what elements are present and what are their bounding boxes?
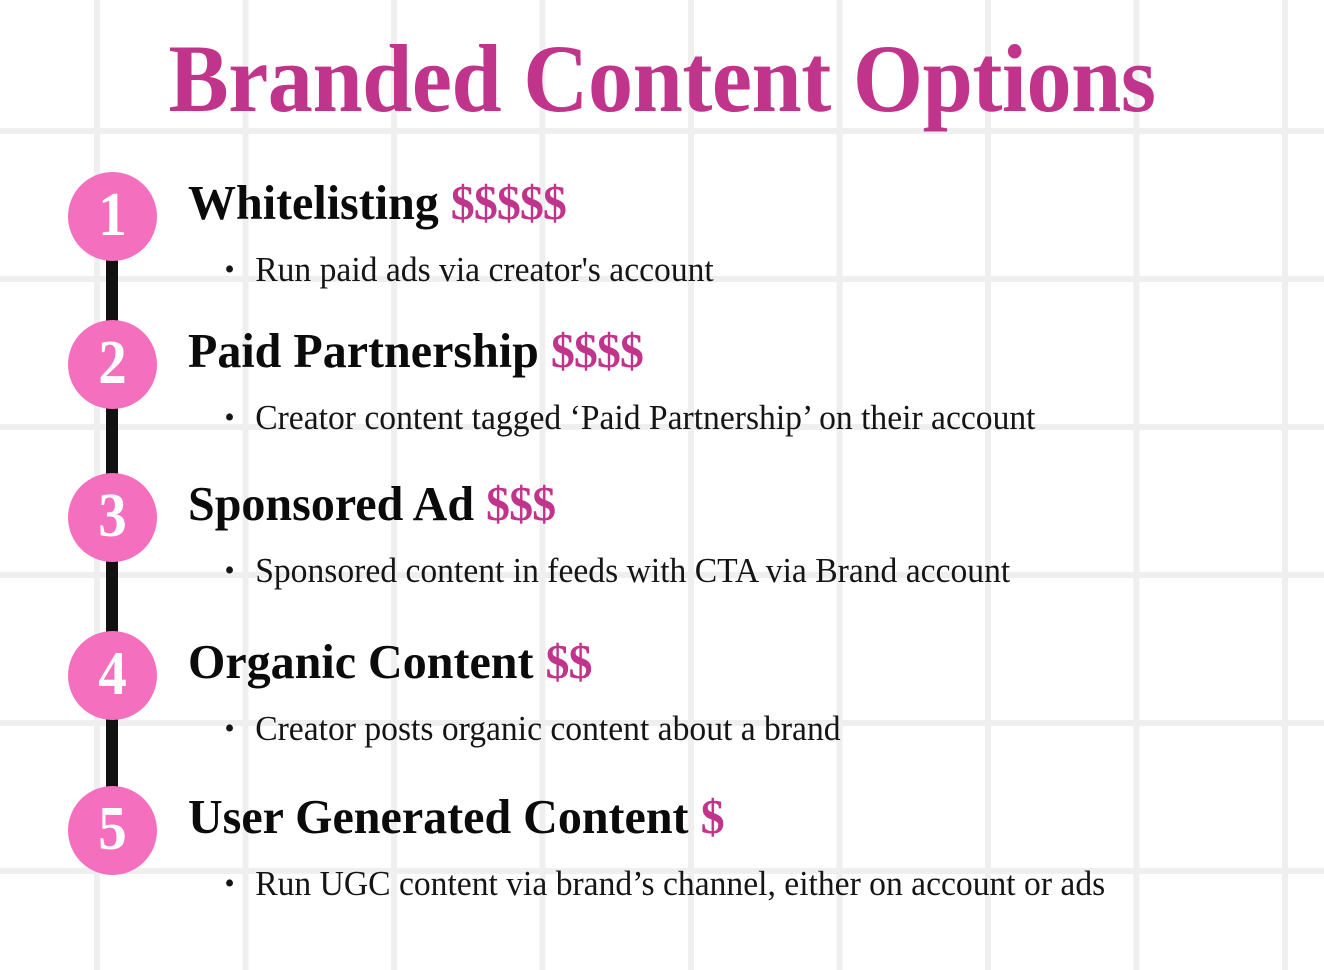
bullet-icon: •: [224, 248, 255, 292]
step-marker-2[interactable]: 2: [68, 320, 157, 409]
step-price-3: $$$: [486, 476, 555, 531]
step-detail-text-4: Creator posts organic content about a br…: [255, 709, 840, 748]
timeline-step-4[interactable]: 4 Organic Content $$ •Creator posts orga…: [0, 631, 1324, 791]
timeline-step-2[interactable]: 2 Paid Partnership $$$$ •Creator content…: [0, 320, 1324, 480]
step-detail-text-5: Run UGC content via brand’s channel, eit…: [255, 864, 1105, 903]
step-heading-1: Whitelisting $$$$$: [188, 172, 1286, 234]
step-heading-3: Sponsored Ad $$$: [188, 473, 1286, 535]
step-heading-5: User Generated Content $: [188, 786, 1286, 848]
step-body-3: Sponsored Ad $$$ •Sponsored content in f…: [188, 473, 1308, 593]
step-price-5: $: [701, 789, 724, 844]
timeline-step-3[interactable]: 3 Sponsored Ad $$$ •Sponsored content in…: [0, 473, 1324, 633]
step-detail-4: •Creator posts organic content about a b…: [188, 704, 1263, 751]
step-detail-1: •Run paid ads via creator's account: [188, 245, 1263, 292]
timeline-step-5[interactable]: 5 User Generated Content $ •Run UGC cont…: [0, 786, 1324, 946]
step-price-4: $$: [545, 634, 591, 689]
step-number-3: 3: [98, 485, 127, 547]
step-detail-3: •Sponsored content in feeds with CTA via…: [188, 546, 1263, 593]
step-heading-label-1: Whitelisting: [188, 175, 439, 230]
step-detail-5: •Run UGC content via brand’s channel, ei…: [188, 859, 1263, 906]
step-body-1: Whitelisting $$$$$ •Run paid ads via cre…: [188, 172, 1308, 292]
step-body-2: Paid Partnership $$$$ •Creator content t…: [188, 320, 1308, 440]
step-heading-2: Paid Partnership $$$$: [188, 320, 1286, 382]
bullet-icon: •: [224, 707, 255, 751]
step-body-4: Organic Content $$ •Creator posts organi…: [188, 631, 1308, 751]
step-detail-text-1: Run paid ads via creator's account: [255, 250, 714, 289]
step-detail-2: •Creator content tagged ‘Paid Partnershi…: [188, 393, 1263, 440]
infographic-canvas: Branded Content Options 1 Whitelisting $…: [0, 0, 1324, 970]
step-heading-label-5: User Generated Content: [188, 789, 689, 844]
bullet-icon: •: [224, 862, 255, 906]
step-marker-4[interactable]: 4: [68, 631, 157, 720]
step-marker-3[interactable]: 3: [68, 473, 157, 562]
step-number-4: 4: [98, 643, 127, 705]
step-heading-label-2: Paid Partnership: [188, 323, 539, 378]
step-number-1: 1: [98, 184, 127, 246]
page-title: Branded Content Options: [40, 24, 1285, 134]
step-marker-1[interactable]: 1: [68, 172, 157, 261]
step-price-1: $$$$$: [451, 175, 566, 230]
step-detail-text-2: Creator content tagged ‘Paid Partnership…: [255, 398, 1035, 437]
step-heading-label-3: Sponsored Ad: [188, 476, 474, 531]
bullet-icon: •: [224, 549, 255, 593]
timeline-step-1[interactable]: 1 Whitelisting $$$$$ •Run paid ads via c…: [0, 172, 1324, 332]
bullet-icon: •: [224, 396, 255, 440]
step-body-5: User Generated Content $ •Run UGC conten…: [188, 786, 1308, 906]
step-price-2: $$$$: [551, 323, 643, 378]
step-heading-label-4: Organic Content: [188, 634, 533, 689]
step-marker-5[interactable]: 5: [68, 786, 157, 875]
step-number-5: 5: [98, 798, 127, 860]
step-detail-text-3: Sponsored content in feeds with CTA via …: [255, 551, 1010, 590]
step-heading-4: Organic Content $$: [188, 631, 1286, 693]
step-number-2: 2: [98, 332, 127, 394]
